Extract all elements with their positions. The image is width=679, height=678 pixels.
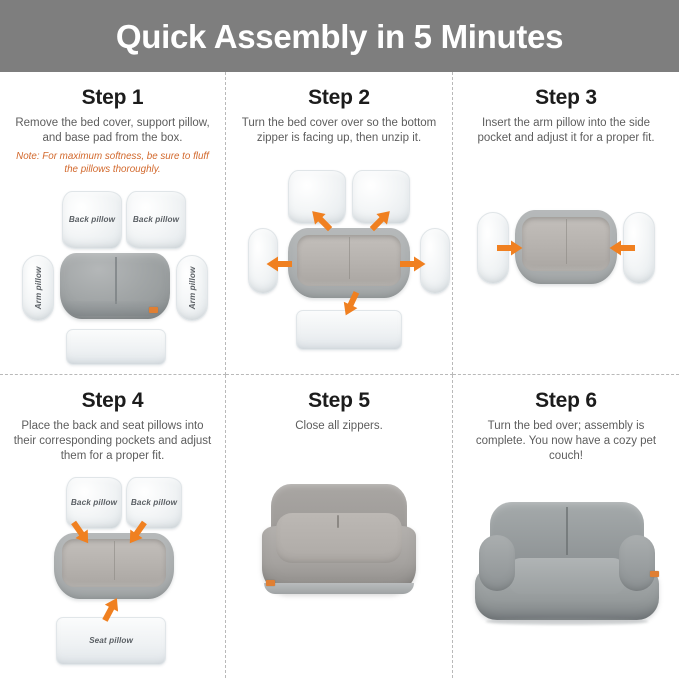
step-1-diagram: Back pillow Back pillow Arm pillow Arm p… [10,183,215,373]
bed-cover-seam [115,257,117,305]
arrow-to-arm-pillow-right [400,256,426,272]
step-panel-1: Step 1 Remove the bed cover, support pil… [0,72,226,375]
step-1-description: Remove the bed cover, support pillow, an… [12,116,213,146]
header-bar: Quick Assembly in 5 Minutes [0,0,679,72]
unzipped-bed-cover [54,533,174,599]
assembled-bed [262,484,416,594]
step-3-description: Insert the arm pillow into the side pock… [465,116,667,146]
step-panel-5: Step 5 Close all zippers. [226,375,453,678]
couch-backrest-seam [566,507,568,556]
step-5-description: Close all zippers. [238,419,440,434]
unzipped-bed-cover [515,210,617,284]
step-5-diagram [236,476,442,666]
back-pillow-left: Back pillow [62,191,122,249]
bed-skirt [264,583,415,594]
back-pillow-right-label: Back pillow [127,192,185,248]
step-1-note: Note: For maximum softness, be sure to f… [16,151,209,176]
steps-grid: Step 1 Remove the bed cover, support pil… [0,72,679,678]
step-panel-2: Step 2 Turn the bed cover over so the bo… [226,72,453,375]
step-1-title: Step 1 [10,86,215,109]
step-2-diagram [236,170,442,375]
step-panel-3: Step 3 Insert the arm pillow into the si… [453,72,679,375]
cover-interior-seam [349,237,350,279]
base-pad [66,329,166,365]
assembly-infographic: Quick Assembly in 5 Minutes Step 1 Remov… [0,0,679,678]
step-3-diagram [463,204,669,375]
cover-interior-seam [566,219,567,263]
arm-pillow-right: Arm pillow [176,255,208,321]
cover-interior-seam [114,541,115,581]
bed-cover [60,253,170,319]
step-4-diagram: Back pillow Back pillow Seat pillow [10,477,215,678]
step-6-title: Step 6 [463,389,669,412]
couch-shadow [486,618,647,624]
step-2-description: Turn the bed cover over so the bottom zi… [238,116,440,146]
couch-arm-left [479,535,515,591]
brand-tag [650,571,659,577]
arrow-to-arm-pillow-left [266,256,292,272]
step-3-title: Step 3 [463,86,669,109]
back-pillow-left-label: Back pillow [63,192,121,248]
seat-pillow-label: Seat pillow [57,618,165,664]
couch-seat-cushion [509,558,624,594]
brand-tag [266,580,275,586]
step-2-title: Step 2 [236,86,442,109]
finished-pet-couch [471,497,663,625]
step-4-title: Step 4 [10,389,215,412]
step-6-description: Turn the bed over; assembly is complete.… [465,419,667,465]
step-5-title: Step 5 [236,389,442,412]
step-4-description: Place the back and seat pillows into the… [12,419,213,465]
arrow-insert-left-arm-pillow [497,240,523,256]
couch-arm-right [619,535,655,591]
brand-tag [149,307,158,313]
back-pillow-right: Back pillow [126,191,186,249]
arrow-insert-right-arm-pillow [609,240,635,256]
arm-pillow-left: Arm pillow [22,255,54,321]
step-6-diagram [463,497,669,678]
step-panel-4: Step 4 Place the back and seat pillows i… [0,375,226,678]
step-panel-6: Step 6 Turn the bed over; assembly is co… [453,375,679,678]
page-title: Quick Assembly in 5 Minutes [116,20,563,53]
